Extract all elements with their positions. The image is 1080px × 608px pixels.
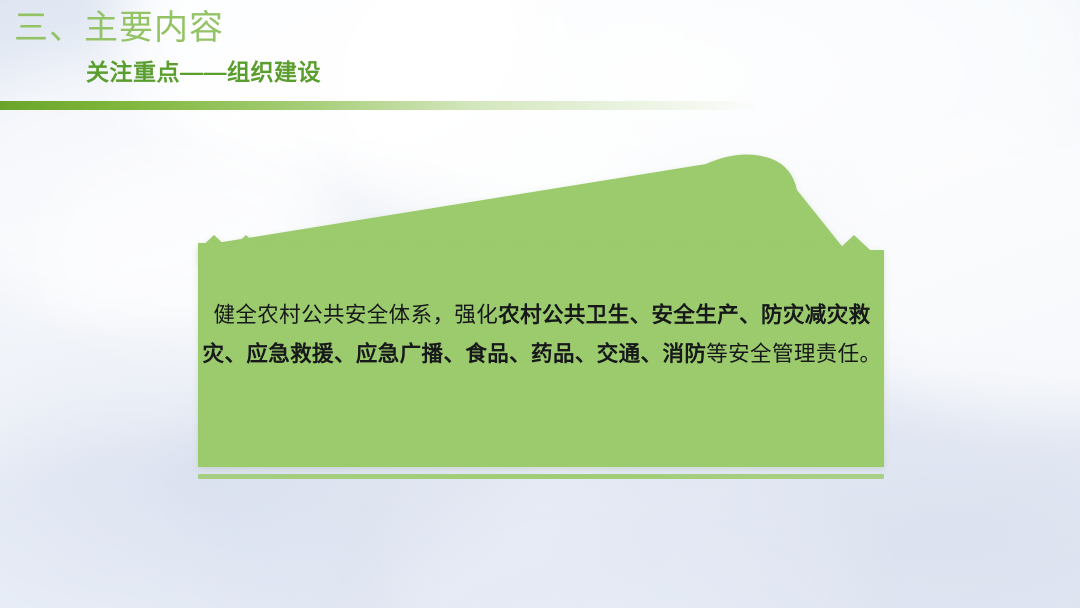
header-divider-line	[0, 101, 760, 110]
card-paragraph: 健全农村公共安全体系，强化农村公共卫生、安全生产、防灾减灾救灾、应急救援、应急广…	[200, 296, 884, 374]
page-title: 三、主要内容	[14, 7, 224, 49]
slide-canvas: 三、主要内容 关注重点——组织建设	[0, 0, 1080, 608]
section-number: 三、	[14, 9, 84, 47]
page-subtitle: 关注重点——组织建设	[86, 57, 321, 87]
paragraph-segment-plain-tail: 等安全管理责任。	[706, 342, 881, 366]
paragraph-segment-plain-lead: 健全农村公共安全体系，强化	[213, 303, 498, 327]
section-title: 主要内容	[84, 9, 224, 47]
